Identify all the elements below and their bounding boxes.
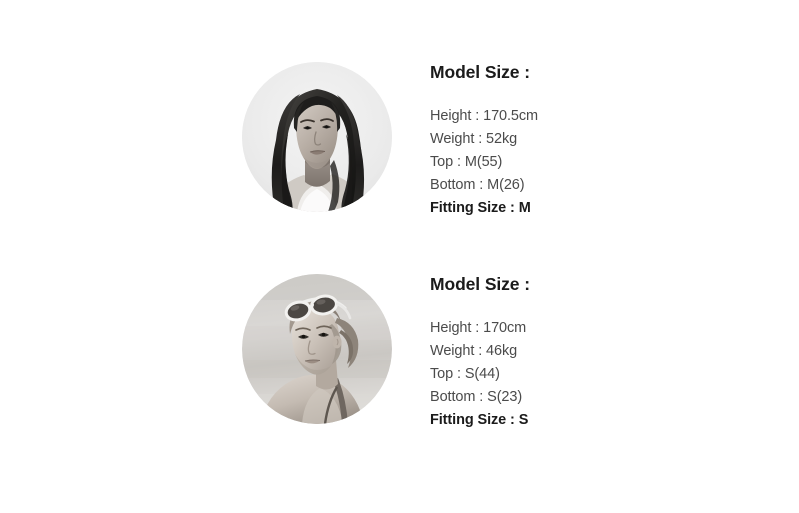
- model-spec-list: Height : 170.5cm Weight : 52kg Top : M(5…: [430, 105, 750, 220]
- spec-fitting-size: Fitting Size : S: [430, 409, 750, 432]
- spec-top: Top : M(55): [430, 151, 750, 174]
- spec-top: Top : S(44): [430, 363, 750, 386]
- model-size-block: Model Size : Height : 170cm Weight : 46k…: [0, 274, 799, 434]
- model-size-info-page: Model Size : Height : 170.5cm Weight : 5…: [0, 0, 799, 513]
- spec-fitting-size: Fitting Size : M: [430, 197, 750, 220]
- spec-weight: Weight : 46kg: [430, 340, 750, 363]
- spec-height: Height : 170cm: [430, 317, 750, 340]
- spec-height: Height : 170.5cm: [430, 105, 750, 128]
- model-size-info: Model Size : Height : 170.5cm Weight : 5…: [430, 62, 750, 220]
- model-portrait-photo: [242, 274, 392, 424]
- model-size-title: Model Size :: [430, 62, 750, 82]
- spec-weight: Weight : 52kg: [430, 128, 750, 151]
- model-spec-list: Height : 170cm Weight : 46kg Top : S(44)…: [430, 317, 750, 432]
- model-size-info: Model Size : Height : 170cm Weight : 46k…: [430, 274, 750, 432]
- model-size-title: Model Size :: [430, 274, 750, 294]
- model-size-block: Model Size : Height : 170.5cm Weight : 5…: [0, 62, 799, 222]
- spec-bottom: Bottom : M(26): [430, 174, 750, 197]
- model-portrait-photo: [242, 62, 392, 212]
- spec-bottom: Bottom : S(23): [430, 386, 750, 409]
